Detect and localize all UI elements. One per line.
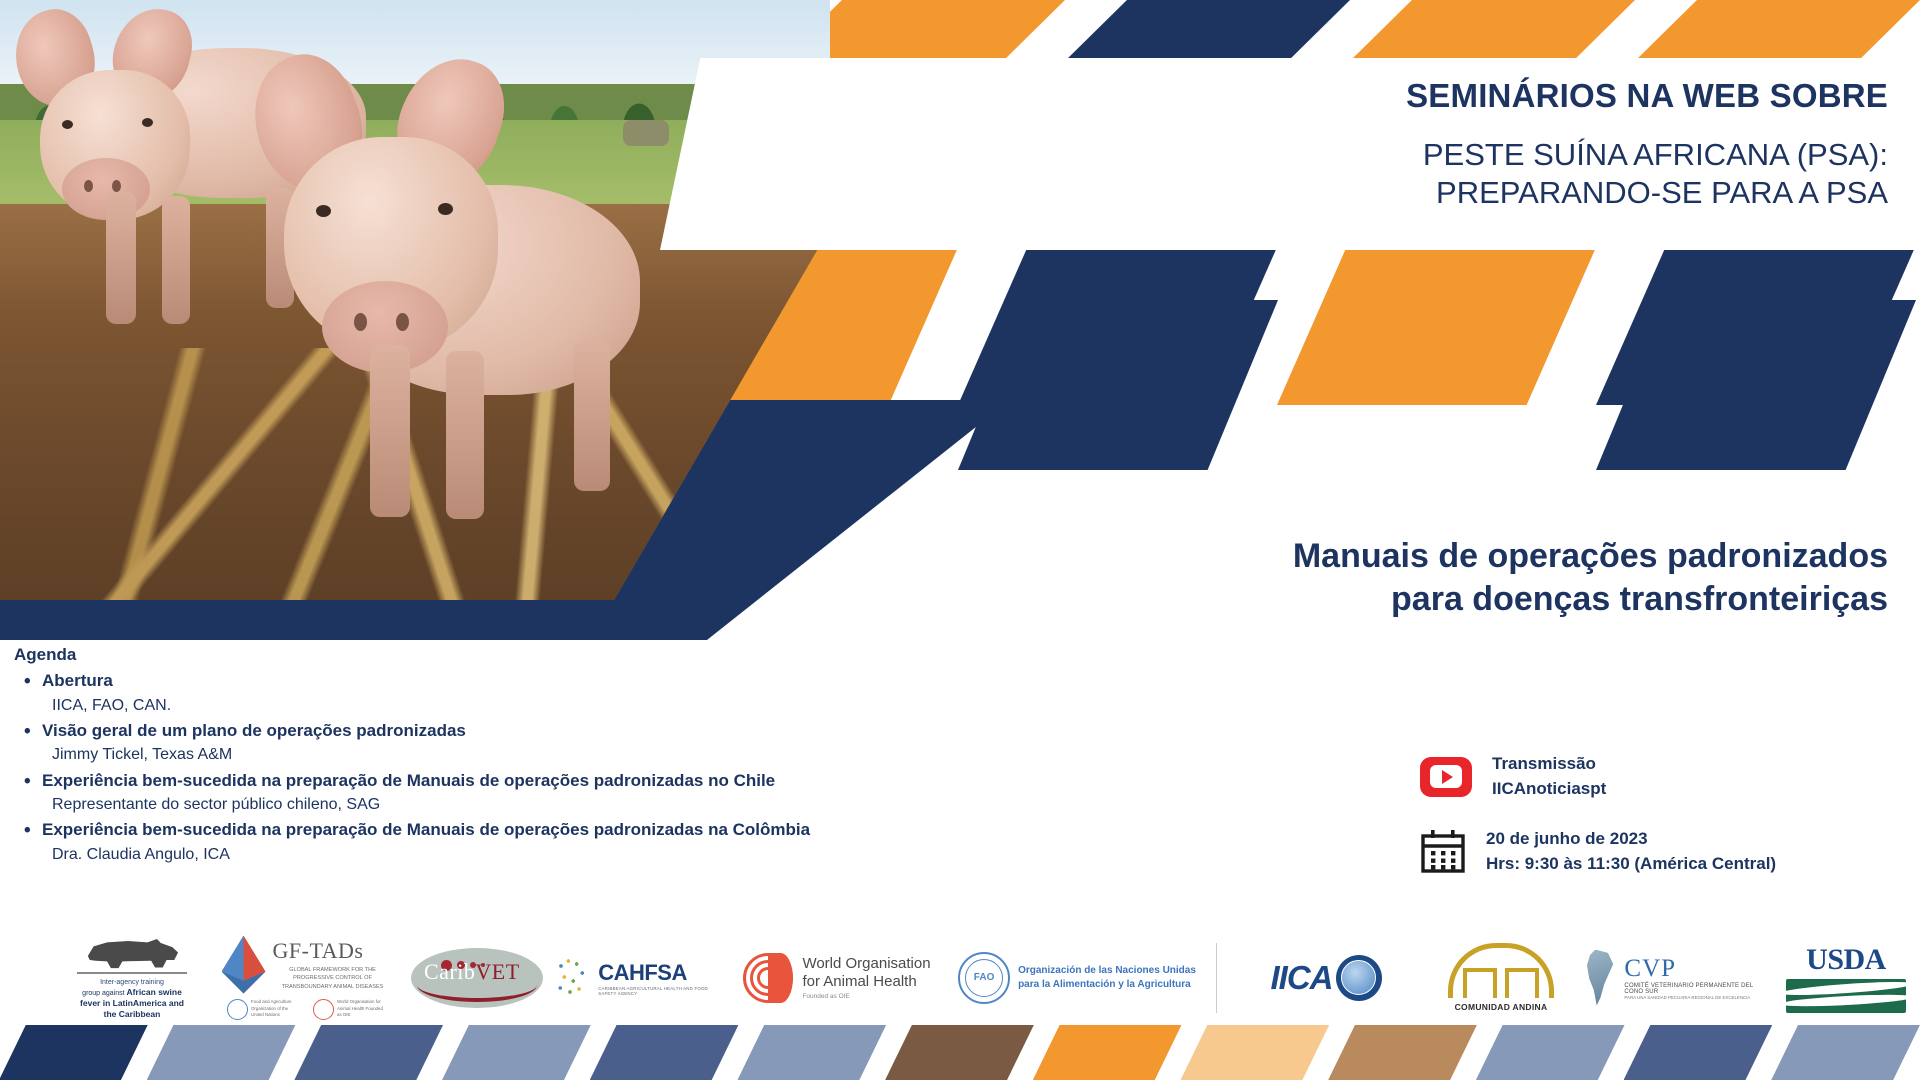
gf-tads-fao-mini: Food and Agriculture Organization of the… xyxy=(227,999,301,1020)
bottom-hexagon xyxy=(0,1025,148,1080)
fao-line2: para la Alimentación y la Agricultura xyxy=(1018,978,1196,992)
cvp-subtitle2: PARA UNA SANIDAD PECUARIA REGIONAL DE EX… xyxy=(1624,995,1771,1000)
south-america-map-icon xyxy=(1581,950,1618,1006)
poster-canvas: SEMINÁRIOS NA WEB SOBRE PESTE SUÍNA AFRI… xyxy=(0,0,1920,1080)
subtitle-line2: para doenças transfronteiriças xyxy=(880,578,1888,621)
bottom-hexagon xyxy=(1033,1025,1182,1080)
agenda-item: Visão geral de um plano de operações pad… xyxy=(42,719,1104,767)
fao-seal-icon: FAO xyxy=(958,952,1010,1004)
bottom-hexagon xyxy=(590,1025,739,1080)
comunidad-andina-logo: COMUNIDAD ANDINA xyxy=(1421,935,1581,1021)
agenda-speaker: Jimmy Tickel, Texas A&M xyxy=(42,743,1104,766)
bottom-hexagon xyxy=(1771,1025,1920,1080)
fao-line1: Organización de las Naciones Unidas xyxy=(1018,964,1196,978)
bottom-hexagon xyxy=(442,1025,591,1080)
hexagon-band-top xyxy=(780,0,1920,62)
agenda-item: Experiência bem-sucedida na preparação d… xyxy=(42,769,1104,817)
main-title: PESTE SUÍNA AFRICANA (PSA): PREPARANDO-S… xyxy=(960,136,1888,212)
main-title-line1: PESTE SUÍNA AFRICANA (PSA): xyxy=(960,136,1888,174)
iica-wordmark: IICA xyxy=(1271,959,1333,997)
bottom-hexagon xyxy=(294,1025,443,1080)
woah-mark-icon xyxy=(743,953,793,1003)
broadcast-row: Transmissão IICAnoticiaspt xyxy=(1420,752,1900,801)
gf-tads-woah-mini: World Organisation for Animal Health Fou… xyxy=(313,999,387,1020)
agenda-speaker: Representante do sector público chileno,… xyxy=(42,793,1104,816)
bottom-hexagon xyxy=(1476,1025,1625,1080)
agenda-section: Agenda Abertura IICA, FAO, CAN. Visão ge… xyxy=(14,645,1104,868)
calendar-icon xyxy=(1420,829,1466,875)
bottom-hexagon xyxy=(1328,1025,1477,1080)
gf-tads-subtitle: GLOBAL FRAMEWORK FOR THE PROGRESSIVE CON… xyxy=(273,966,393,991)
cvp-wordmark: CVP xyxy=(1624,955,1771,983)
agenda-topic: Abertura xyxy=(42,669,1104,694)
schedule-time: Hrs: 9:30 às 11:30 (América Central) xyxy=(1486,852,1776,877)
agenda-speaker: IICA, FAO, CAN. xyxy=(42,694,1104,717)
subtitle-block: Manuais de operações padronizados para d… xyxy=(880,535,1910,620)
cahfsa-burst-icon xyxy=(552,953,593,1003)
info-section: Transmissão IICAnoticiaspt xyxy=(1420,752,1900,903)
gf-tads-wordmark: GF-TADs xyxy=(273,938,393,964)
agenda-heading: Agenda xyxy=(14,645,1104,665)
gf-tads-diamond-icon xyxy=(222,936,266,994)
subtitle-line1: Manuais de operações padronizados xyxy=(880,535,1888,578)
woah-logo: World Organisation for Animal Health Fou… xyxy=(722,935,952,1021)
agenda-item: Experiência bem-sucedida na preparação d… xyxy=(42,818,1104,866)
bottom-hexagon xyxy=(147,1025,296,1080)
agenda-topic: Experiência bem-sucedida na preparação d… xyxy=(42,818,1104,843)
bottom-hexagon xyxy=(737,1025,886,1080)
agenda-speaker: Dra. Claudia Angulo, ICA xyxy=(42,843,1104,866)
schedule-row: 20 de junho de 2023 Hrs: 9:30 às 11:30 (… xyxy=(1420,827,1900,876)
usda-wordmark: USDA xyxy=(1806,943,1886,977)
caribvet-wordmark: CaribVET xyxy=(424,959,520,985)
logo-divider xyxy=(1216,943,1217,1013)
broadcast-text: Transmissão IICAnoticiaspt xyxy=(1492,752,1606,801)
bottom-hexagon xyxy=(1624,1025,1773,1080)
bottom-hexagon-strip xyxy=(0,1025,1920,1080)
usda-logo: USDA xyxy=(1771,935,1920,1021)
asf-line3: fever in LatinAmerica and xyxy=(80,998,184,1009)
schedule-date: 20 de junho de 2023 xyxy=(1486,827,1776,852)
caribvet-logo: CaribVET xyxy=(402,935,552,1021)
agenda-item: Abertura IICA, FAO, CAN. xyxy=(42,669,1104,717)
broadcast-label: Transmissão xyxy=(1492,752,1606,777)
partner-logo-bar: Inter-agency training group against Afri… xyxy=(0,930,1920,1025)
cvp-logo: CVP COMITÉ VETERINARIO PERMANENTE DEL CO… xyxy=(1581,935,1771,1021)
andina-wordmark: COMUNIDAD ANDINA xyxy=(1455,1002,1548,1012)
woah-line1: World Organisation xyxy=(802,955,930,973)
broadcast-channel: IICAnoticiaspt xyxy=(1492,777,1606,802)
pig-silhouette-icon xyxy=(84,935,180,969)
agenda-list: Abertura IICA, FAO, CAN. Visão geral de … xyxy=(14,669,1104,866)
asf-line4: the Caribbean xyxy=(104,1009,161,1020)
youtube-icon[interactable] xyxy=(1420,757,1472,797)
cahfsa-logo: CAHFSA CARIBBEAN AGRICULTURAL HEALTH AND… xyxy=(552,935,722,1021)
header-text-block: SEMINÁRIOS NA WEB SOBRE PESTE SUÍNA AFRI… xyxy=(960,78,1910,212)
agenda-topic: Visão geral de um plano de operações pad… xyxy=(42,719,1104,744)
bottom-hexagon xyxy=(885,1025,1034,1080)
iica-globe-icon xyxy=(1336,955,1382,1001)
asf-line2: group against African swine xyxy=(82,987,182,998)
asf-line1: Inter-agency training xyxy=(100,978,164,987)
agenda-topic: Experiência bem-sucedida na preparação d… xyxy=(42,769,1104,794)
gf-tads-logo: GF-TADs GLOBAL FRAMEWORK FOR THE PROGRES… xyxy=(212,935,402,1021)
main-title-line2: PREPARANDO-SE PARA A PSA xyxy=(960,174,1888,212)
woah-line2: for Animal Health xyxy=(802,973,930,991)
cahfsa-wordmark: CAHFSA xyxy=(598,960,722,986)
asf-swine-fever-logo: Inter-agency training group against Afri… xyxy=(52,935,212,1021)
cahfsa-subtitle: CARIBBEAN AGRICULTURAL HEALTH AND FOOD S… xyxy=(598,986,722,996)
kicker-text: SEMINÁRIOS NA WEB SOBRE xyxy=(960,78,1888,114)
schedule-text: 20 de junho de 2023 Hrs: 9:30 às 11:30 (… xyxy=(1486,827,1776,876)
fao-text: Organización de las Naciones Unidas para… xyxy=(1018,964,1196,992)
woah-subtitle: Founded as OIE xyxy=(802,993,930,1000)
andina-arch-icon xyxy=(1448,943,1554,998)
bottom-hexagon xyxy=(1181,1025,1330,1080)
iica-logo: IICA xyxy=(1231,935,1421,1021)
cvp-subtitle1: COMITÉ VETERINARIO PERMANENTE DEL CONO S… xyxy=(1624,983,1771,995)
fao-logo: FAO Organización de las Naciones Unidas … xyxy=(952,935,1202,1021)
usda-field-graphic xyxy=(1786,979,1906,1013)
pig-right xyxy=(250,55,720,525)
